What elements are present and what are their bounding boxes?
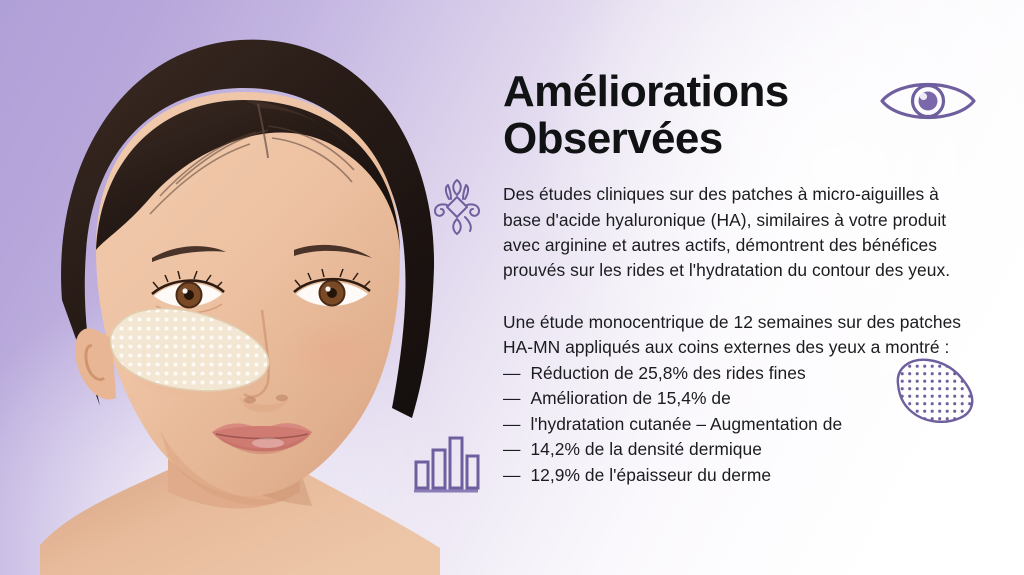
list-item-label: 14,2% de la densité dermique — [530, 437, 762, 463]
microneedle-patch-icon — [884, 348, 990, 430]
bar-chart-icon — [408, 432, 480, 496]
dash-bullet: — — [503, 437, 520, 463]
dash-bullet: — — [503, 463, 520, 489]
dash-bullet: — — [503, 412, 520, 438]
list-item-label: Amélioration de 15,4% de — [530, 386, 730, 412]
dash-bullet: — — [503, 386, 520, 412]
model-photo — [0, 0, 470, 575]
promo-slide: Améliorations Observées Des études clini… — [0, 0, 1024, 575]
dash-bullet: — — [503, 361, 520, 387]
list-item: — 14,2% de la densité dermique — [503, 437, 973, 463]
eye-icon — [878, 70, 978, 132]
list-item-label: l'hydratation cutanée – Augmentation de — [530, 412, 842, 438]
list-item-label: 12,9% de l'épaisseur du derme — [530, 463, 771, 489]
floral-ornament-icon — [426, 176, 488, 238]
intro-paragraph: Des études cliniques sur des patches à m… — [503, 182, 973, 284]
list-item-label: Réduction de 25,8% des rides fines — [530, 361, 805, 387]
list-item: — 12,9% de l'épaisseur du derme — [503, 463, 973, 489]
